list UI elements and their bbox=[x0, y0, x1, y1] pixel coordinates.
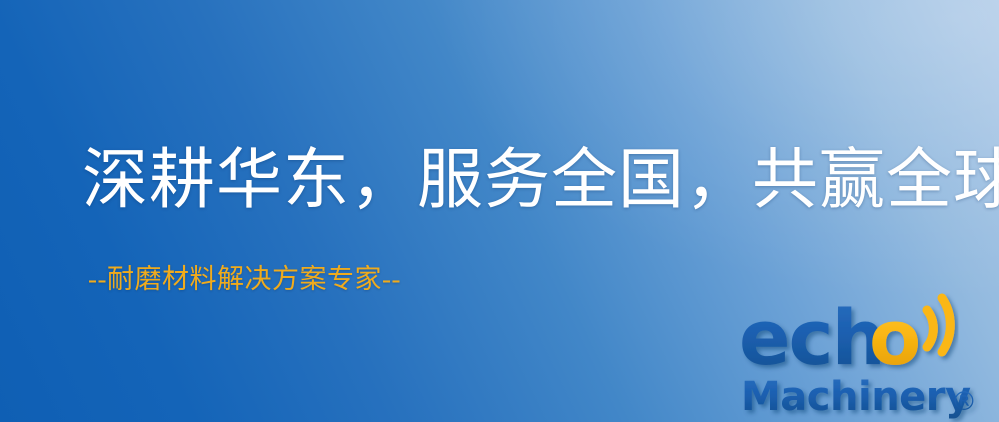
logo-text-o: o bbox=[869, 293, 921, 382]
logo-wordmark-echo: ech o bbox=[739, 293, 921, 382]
logo-text-machinery: Machinery bbox=[741, 374, 971, 420]
banner-headline: 深耕华东，服务全国，共赢全球 bbox=[82, 148, 999, 214]
company-logo[interactable]: ech o Machinery ® bbox=[735, 292, 997, 422]
echo-signal-waves-icon bbox=[927, 298, 950, 352]
logo-text-ech: ech bbox=[739, 293, 884, 382]
banner-subtitle: --耐磨材料解决方案专家-- bbox=[88, 266, 401, 293]
promo-banner: 深耕华东，服务全国，共赢全球 --耐磨材料解决方案专家-- bbox=[0, 0, 999, 422]
logo-trademark-symbol: ® bbox=[951, 387, 977, 417]
